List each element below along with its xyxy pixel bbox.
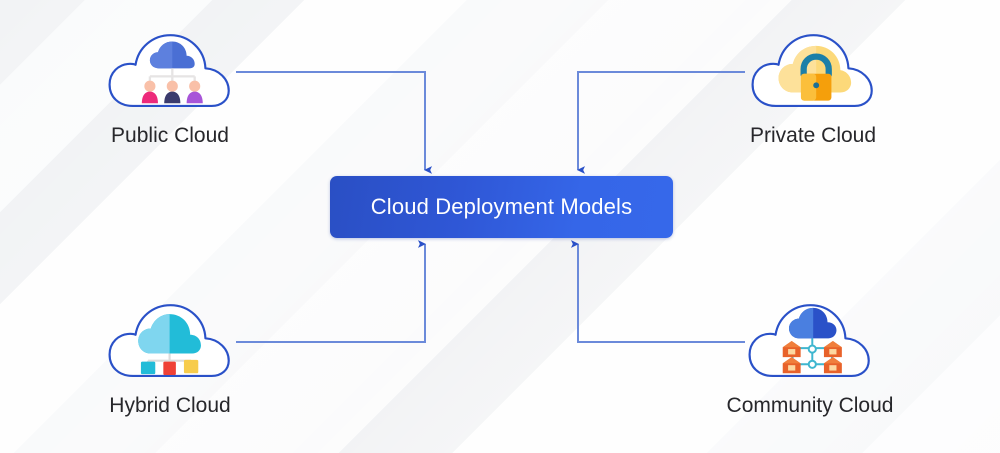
cloud-community-icon bbox=[743, 298, 878, 384]
node-private-cloud-label: Private Cloud bbox=[750, 124, 876, 148]
node-public-cloud[interactable]: Public Cloud bbox=[60, 28, 280, 148]
node-hybrid-cloud-label: Hybrid Cloud bbox=[109, 394, 230, 418]
node-private-cloud[interactable]: Private Cloud bbox=[703, 28, 923, 148]
node-hybrid-cloud[interactable]: Hybrid Cloud bbox=[60, 298, 280, 418]
center-node-label: Cloud Deployment Models bbox=[371, 194, 632, 220]
node-public-cloud-label: Public Cloud bbox=[111, 124, 229, 148]
cloud-users-icon bbox=[103, 28, 238, 114]
cloud-servers-icon bbox=[103, 298, 238, 384]
cloud-lock-icon bbox=[746, 28, 881, 114]
node-community-cloud-label: Community Cloud bbox=[727, 394, 894, 418]
diagram-canvas: Cloud Deployment Models bbox=[0, 0, 1000, 453]
center-node-cloud-deployment-models[interactable]: Cloud Deployment Models bbox=[330, 176, 673, 238]
node-community-cloud[interactable]: Community Cloud bbox=[700, 298, 920, 418]
